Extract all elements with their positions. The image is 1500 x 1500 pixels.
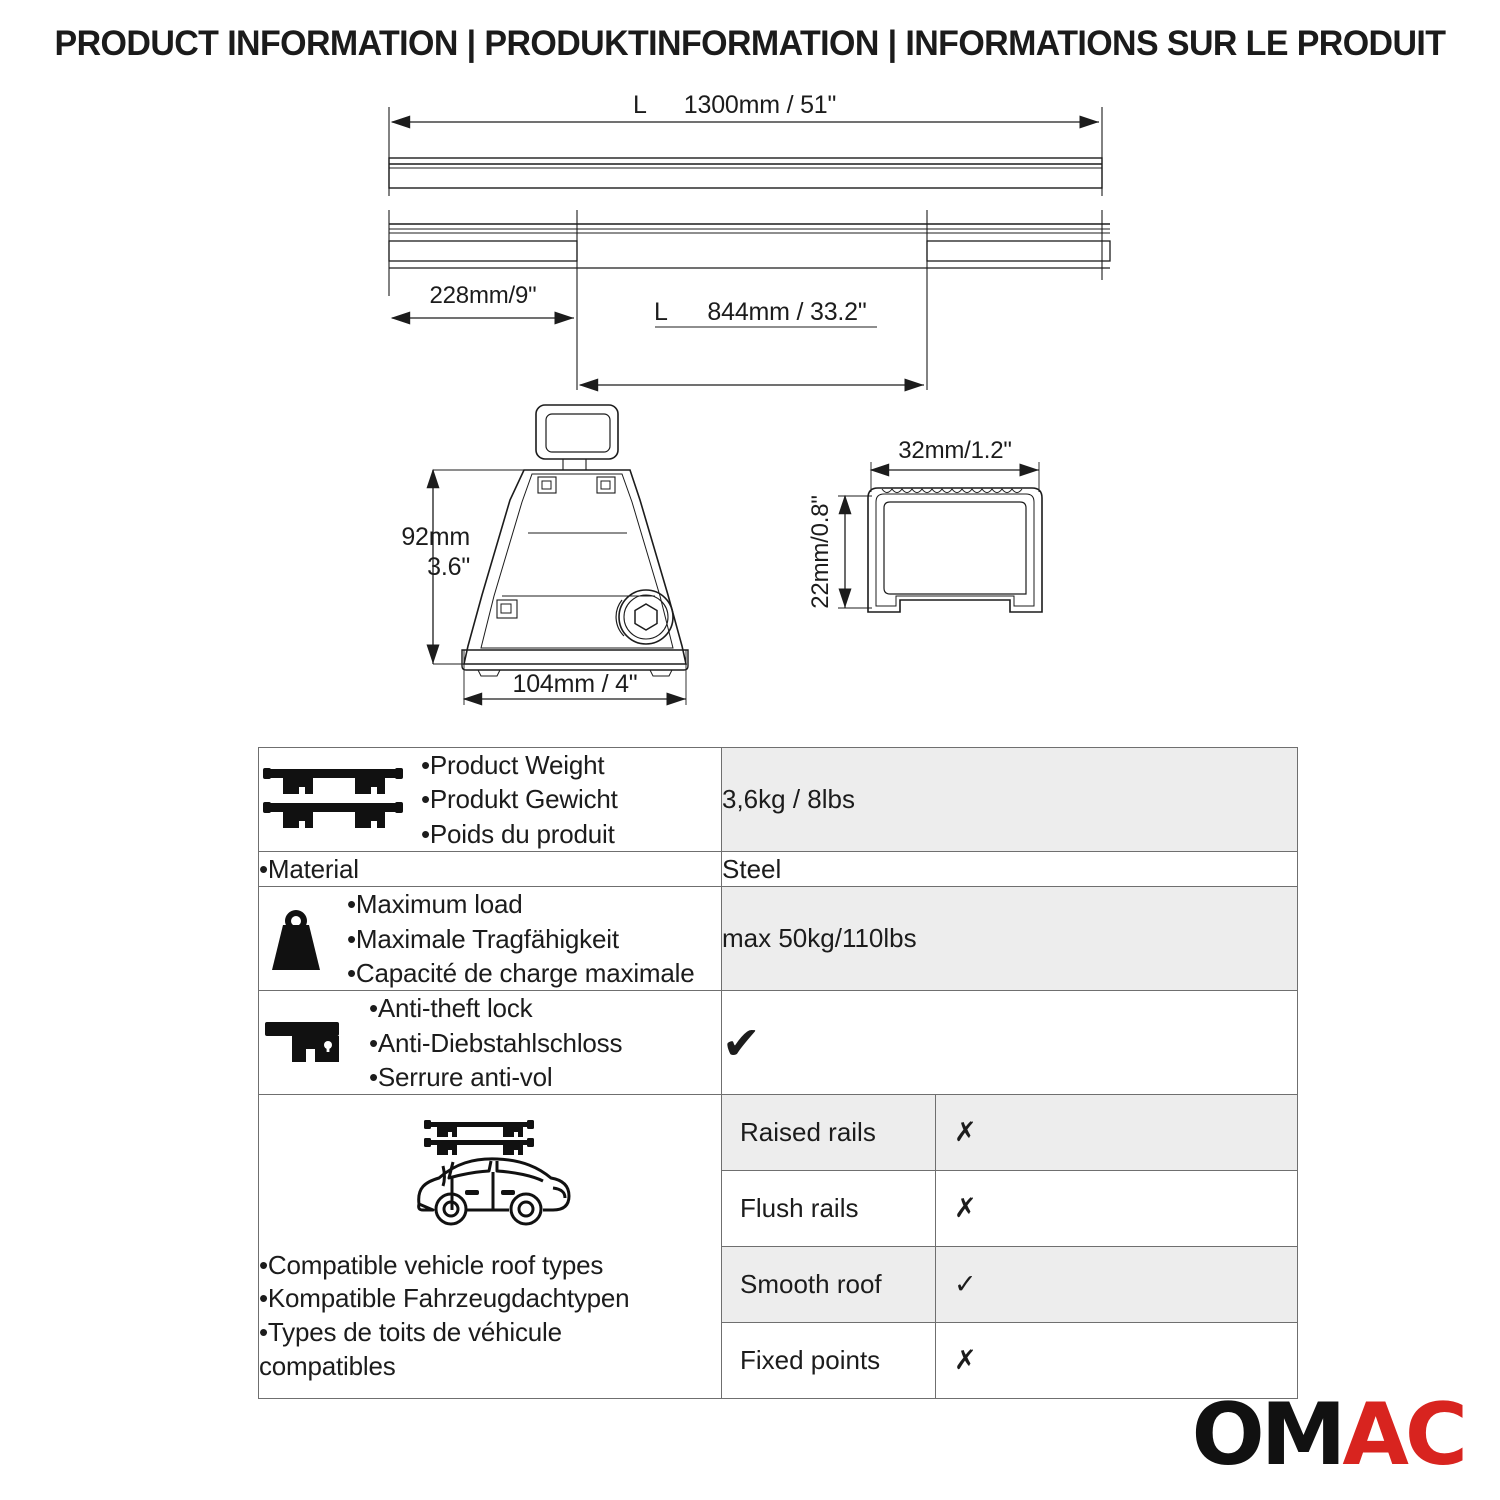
- table-row-compatible-roof-types: •Compatible vehicle roof types •Kompatib…: [259, 1095, 1298, 1399]
- roof-type-row-raised-rails: Raised rails ✗: [722, 1095, 1297, 1171]
- value-anti-theft-lock: ✔: [722, 991, 1298, 1095]
- foot-width-value: 104mm / 4": [513, 670, 638, 698]
- label-cell-anti-theft-lock: •Anti-theft lock •Anti-Diebstahlschloss …: [259, 991, 722, 1095]
- table-row-maximum-load: •Maximum load •Maximale Tragfähigkeit •C…: [259, 887, 1298, 991]
- label-de: •Produkt Gewicht: [421, 782, 618, 816]
- label-fr: •Poids du produit: [421, 817, 618, 851]
- table-row-product-weight: •Product Weight •Produkt Gewicht •Poids …: [259, 748, 1298, 852]
- value-material: Steel: [722, 851, 1298, 886]
- roof-type-name: Raised rails: [722, 1095, 936, 1171]
- label-lines-product-weight: •Product Weight •Produkt Gewicht •Poids …: [421, 748, 618, 851]
- roof-type-row-smooth-roof: Smooth roof ✓: [722, 1247, 1297, 1323]
- table-row-material: •Material Steel: [259, 851, 1298, 886]
- label-en: •Maximum load: [347, 887, 694, 921]
- roof-type-mark: ✓: [936, 1247, 1298, 1323]
- roof-type-mark: ✗: [936, 1171, 1298, 1247]
- label-cell-product-weight: •Product Weight •Produkt Gewicht •Poids …: [259, 748, 722, 852]
- product-information-page: PRODUCT INFORMATION | PRODUKTINFORMATION…: [0, 0, 1500, 1500]
- roof-type-name: Smooth roof: [722, 1247, 936, 1323]
- span-prefix: L: [654, 298, 668, 326]
- label-en: •Compatible vehicle roof types: [259, 1249, 629, 1283]
- weight-icon: [259, 902, 333, 976]
- roof-type-name: Flush rails: [722, 1171, 936, 1247]
- label-en: •Product Weight: [421, 748, 618, 782]
- check-icon: ✔: [722, 1016, 761, 1070]
- label-de: •Anti-Diebstahlschloss: [369, 1026, 622, 1060]
- label-de: •Maximale Tragfähigkeit: [347, 922, 694, 956]
- technical-drawing-area: L 1300mm / 51" 228mm/9" L 844mm / 33.2" …: [0, 0, 1500, 740]
- overall-length-value: 1300mm / 51": [684, 91, 836, 119]
- cross-icon: ✗: [954, 1193, 977, 1224]
- label-lines-material: •Material: [259, 852, 359, 886]
- foot-height-inch-value: 3.6": [427, 553, 470, 581]
- car-with-rack-icon: [397, 1110, 583, 1245]
- label-en: •Material: [259, 852, 359, 886]
- lock-icon: [259, 1012, 355, 1074]
- label-fr-cont: compatibles: [259, 1350, 629, 1384]
- logo-text-dark: OM: [1192, 1392, 1343, 1478]
- roof-type-name: Fixed points: [722, 1323, 936, 1399]
- specification-table: •Product Weight •Produkt Gewicht •Poids …: [258, 747, 1298, 1399]
- label-cell-compatible-roof-types: •Compatible vehicle roof types •Kompatib…: [259, 1095, 722, 1399]
- label-en: •Anti-theft lock: [369, 991, 622, 1025]
- table-row-anti-theft-lock: •Anti-theft lock •Anti-Diebstahlschloss …: [259, 991, 1298, 1095]
- value-maximum-load: max 50kg/110lbs: [722, 887, 1298, 991]
- label-lines-compatible-roof-types: •Compatible vehicle roof types •Kompatib…: [259, 1249, 629, 1384]
- label-lines-maximum-load: •Maximum load •Maximale Tragfähigkeit •C…: [347, 887, 694, 990]
- roof-type-options-cell: Raised rails ✗ Flush rails ✗: [722, 1095, 1298, 1399]
- roof-type-row-flush-rails: Flush rails ✗: [722, 1171, 1297, 1247]
- cross-icon: ✗: [954, 1345, 977, 1376]
- end-offset-value: 228mm/9": [430, 282, 537, 309]
- logo-text-red: AC: [1342, 1392, 1464, 1478]
- label-de: •Kompatible Fahrzeugdachtypen: [259, 1282, 629, 1316]
- omac-logo: OMAC: [1192, 1392, 1464, 1478]
- check-icon: ✓: [954, 1269, 977, 1300]
- foot-height-value: 92mm: [401, 523, 470, 551]
- label-cell-maximum-load: •Maximum load •Maximale Tragfähigkeit •C…: [259, 887, 722, 991]
- label-fr: •Types de toits de véhicule: [259, 1316, 629, 1350]
- label-fr: •Serrure anti-vol: [369, 1060, 622, 1094]
- span-value: 844mm / 33.2": [707, 298, 866, 326]
- label-fr: •Capacité de charge maximale: [347, 956, 694, 990]
- profile-width-value: 32mm/1.2": [898, 437, 1011, 464]
- label-cell-material: •Material: [259, 851, 722, 886]
- crossbars-icon: [259, 763, 407, 835]
- roof-type-mark: ✗: [936, 1095, 1298, 1171]
- value-product-weight: 3,6kg / 8lbs: [722, 748, 1298, 852]
- profile-height-value: 22mm/0.8": [807, 495, 834, 608]
- roof-type-options-table: Raised rails ✗ Flush rails ✗: [722, 1095, 1297, 1398]
- cross-icon: ✗: [954, 1117, 977, 1148]
- overall-length-prefix: L: [633, 91, 647, 119]
- label-lines-anti-theft-lock: •Anti-theft lock •Anti-Diebstahlschloss …: [369, 991, 622, 1094]
